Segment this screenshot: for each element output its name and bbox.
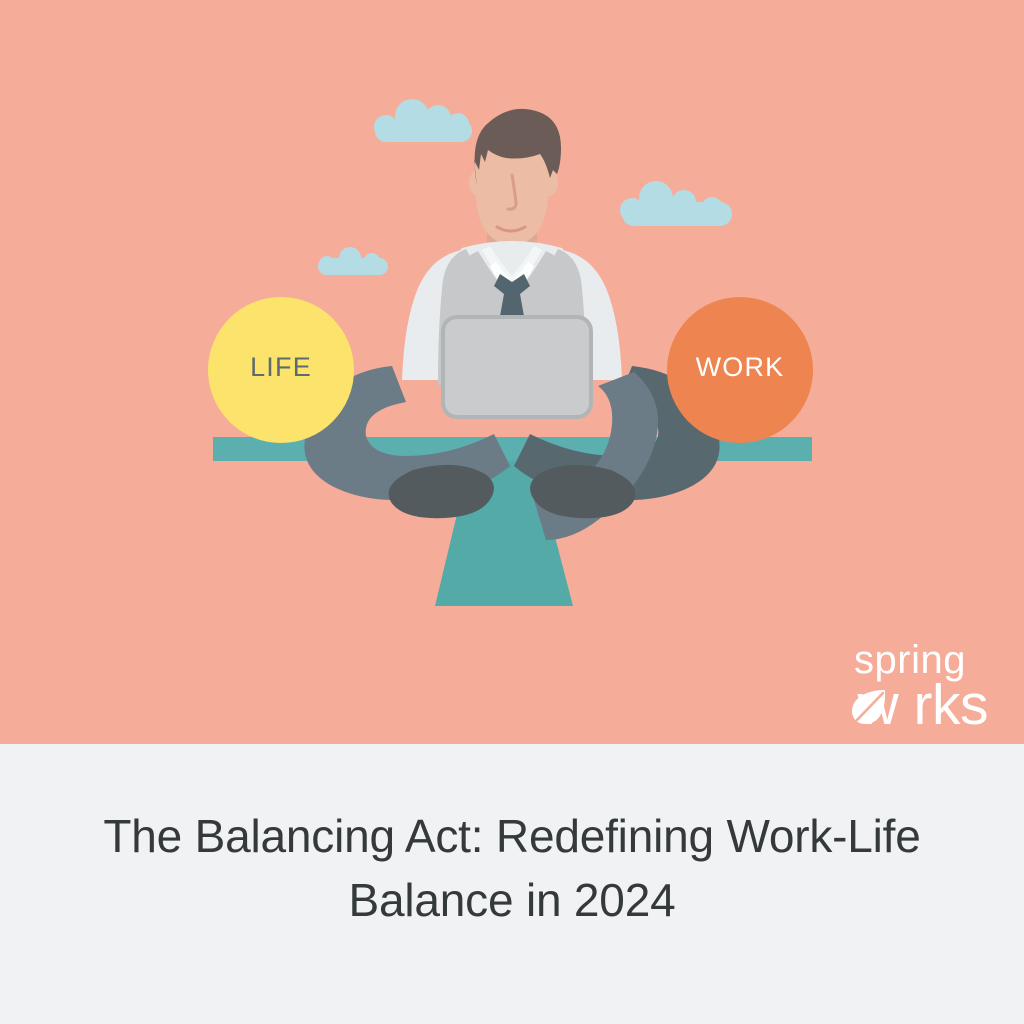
page-title: The Balancing Act: Redefining Work-Life … <box>92 804 932 932</box>
leaf-icon <box>849 687 889 727</box>
laptop-icon <box>443 317 591 417</box>
hero-illustration: LIFE WORK spring w rks <box>0 0 1024 744</box>
caption-area: The Balancing Act: Redefining Work-Life … <box>0 744 1024 1024</box>
logo-word-works-wrap: w rks <box>798 678 988 728</box>
life-ball-label: LIFE <box>208 352 354 383</box>
logo-word-works: w rks <box>798 678 988 732</box>
work-life-balance-illustration <box>0 0 1024 744</box>
work-ball-label: WORK <box>667 352 813 383</box>
article-card: LIFE WORK spring w rks The Balancing Act… <box>0 0 1024 1024</box>
brand-logo[interactable]: spring w rks <box>798 640 988 732</box>
laptop-screen <box>443 317 591 417</box>
